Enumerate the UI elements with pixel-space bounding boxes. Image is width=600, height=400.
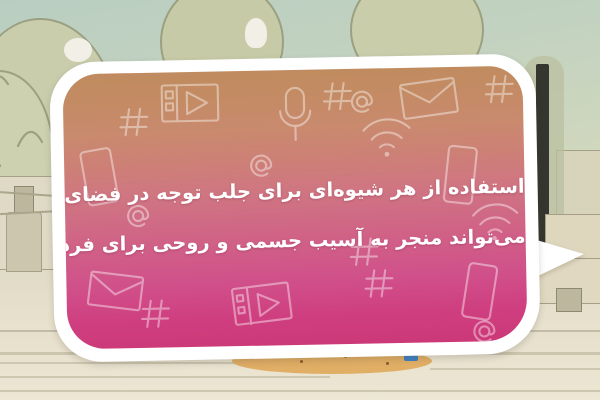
smartphone-icon [456,260,505,325]
hashtag-icon [362,266,397,301]
building-shape [6,212,42,272]
message-line-1: استفاده از هر شیوه‌ای برای جلب توجه در ف… [64,162,525,221]
sand-speck [386,362,389,365]
hashtag-icon [482,72,517,107]
cloud-shape [64,38,92,62]
speech-bubble: استفاده از هر شیوه‌ای برای جلب توجه در ف… [49,53,541,362]
sand-speck [300,360,303,363]
video-player-icon [159,79,222,126]
message-line-2: می‌تواند منجر به آسیب جسمی و روحی برای ف… [65,212,526,271]
video-player-icon [230,280,293,327]
paver-line [430,368,600,370]
cloud-shape [245,18,267,48]
paver-line [0,362,260,364]
envelope-icon [398,75,459,122]
at-sign-icon [471,318,497,344]
hashtag-icon [117,105,152,140]
window-shape [14,186,34,214]
microphone-icon [275,84,316,147]
at-sign-icon [349,88,375,114]
speech-bubble-body: استفاده از هر شیوه‌ای برای جلب توجه در ف… [62,66,527,350]
paver-line [0,390,600,392]
envelope-icon [86,269,145,314]
hashtag-icon [139,296,174,331]
paver-line [0,376,330,378]
screenshot-canvas: استفاده از هر شیوه‌ای برای جلب توجه در ف… [0,0,600,400]
message-text: استفاده از هر شیوه‌ای برای جلب توجه در ف… [64,162,526,271]
